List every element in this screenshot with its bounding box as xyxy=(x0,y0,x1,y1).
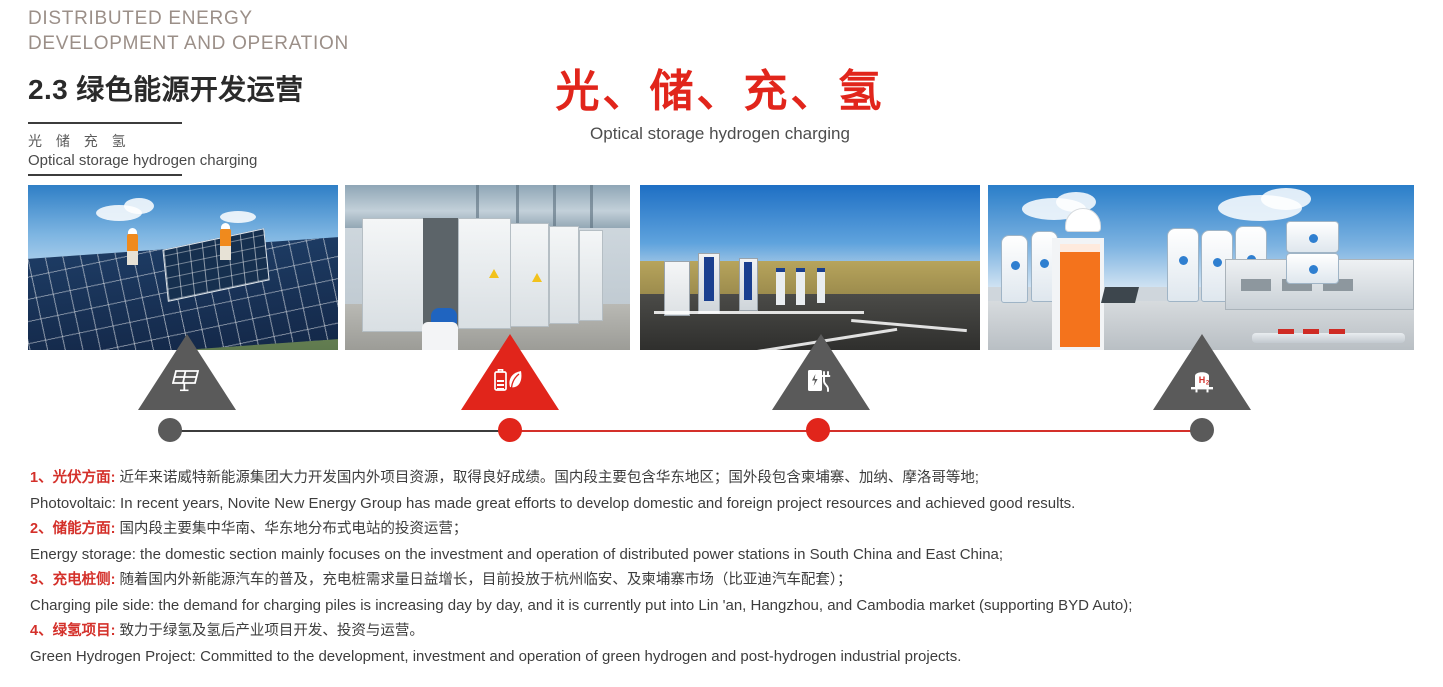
photo-ev-charging-piles xyxy=(640,185,980,350)
hydrogen-tank xyxy=(1167,228,1199,303)
bollard xyxy=(796,268,805,305)
eyebrow-line-1: DISTRIBUTED ENERGY xyxy=(28,6,728,31)
eyebrow-line-2: DEVELOPMENT AND OPERATION xyxy=(28,31,728,56)
warning-icon xyxy=(489,269,499,278)
control-box xyxy=(664,261,690,316)
reflective-stripe xyxy=(1060,244,1100,252)
timeline-segment xyxy=(505,430,820,432)
roof-beam xyxy=(516,185,519,228)
bollard xyxy=(817,268,826,303)
roof-beam xyxy=(590,185,593,228)
photo-solar-panel-installation xyxy=(28,185,338,350)
window xyxy=(1241,279,1271,291)
center-title-block: 光、储、充、氢 Optical storage hydrogen chargin… xyxy=(500,66,940,144)
svg-text:H: H xyxy=(1199,375,1206,385)
paragraph-chinese: 1、光伏方面: 近年来诺威特新能源集团大力开发国内外项目资源，取得良好成绩。国内… xyxy=(30,466,1420,491)
marker-photovoltaic[interactable] xyxy=(138,334,236,410)
battery-cabinet xyxy=(510,223,549,327)
battery-cabinet xyxy=(362,218,424,332)
valve xyxy=(1329,329,1345,334)
paragraph-english: Photovoltaic: In recent years, Novite Ne… xyxy=(30,491,1420,516)
paragraph-english: Charging pile side: the demand for charg… xyxy=(30,593,1420,618)
worker xyxy=(127,228,138,265)
timeline-dot-charging-pile[interactable] xyxy=(806,418,830,442)
technician-body xyxy=(422,322,458,350)
timeline-dot-photovoltaic[interactable] xyxy=(158,418,182,442)
paragraph-english: Green Hydrogen Project: Committed to the… xyxy=(30,644,1420,669)
charging-pile xyxy=(698,253,720,314)
center-title-chinese: 光、储、充、氢 xyxy=(500,66,940,118)
lane-marking xyxy=(654,311,865,314)
hydrogen-tank xyxy=(1001,235,1029,303)
roof-beam xyxy=(553,185,556,228)
warning-icon xyxy=(532,273,542,282)
paragraph-charging-pile: 3、充电桩侧: 随着国内外新能源汽车的普及，充电桩需求量日益增长，目前投放于杭州… xyxy=(30,568,1420,618)
title-divider-top xyxy=(28,122,182,124)
marker-hydrogen[interactable]: H 2 xyxy=(1153,334,1251,410)
sky xyxy=(640,185,980,268)
marker-charging-pile[interactable] xyxy=(772,334,870,410)
paragraph-english: Energy storage: the domestic section mai… xyxy=(30,542,1420,567)
charging-pile xyxy=(739,258,758,311)
paragraph-chinese-text: 致力于绿氢及氢后产业项目开发、投资与运营。 xyxy=(119,623,424,639)
battery-leaf-icon xyxy=(461,368,559,399)
paragraph-chinese-text: 近年来诺威特新能源集团大力开发国内外项目资源，取得良好成绩。国内段主要包含华东地… xyxy=(119,470,979,486)
paragraph-green-hydrogen: 4、绿氢项目: 致力于绿氢及氢后产业项目开发、投资与运营。 Green Hydr… xyxy=(30,619,1420,669)
paragraph-chinese-text: 随着国内外新能源汽车的普及，充电桩需求量日益增长，目前投放于杭州临安、及柬埔寨市… xyxy=(119,572,851,588)
cloud xyxy=(1261,188,1311,210)
timeline xyxy=(0,418,1443,444)
valve xyxy=(1278,329,1294,334)
solar-panel-icon xyxy=(138,368,236,399)
timeline-dot-energy-storage[interactable] xyxy=(498,418,522,442)
paragraph-lead: 2、储能方面: xyxy=(30,521,115,537)
grass-field xyxy=(640,261,980,297)
timeline-dot-hydrogen[interactable] xyxy=(1190,418,1214,442)
paragraph-chinese-text: 国内段主要集中华南、华东地分布式电站的投资运营； xyxy=(119,521,467,537)
photo-strip xyxy=(0,185,1443,350)
paragraph-lead: 1、光伏方面: xyxy=(30,470,115,486)
paragraph-chinese: 3、充电桩侧: 随着国内外新能源汽车的普及，充电桩需求量日益增长，目前投放于杭州… xyxy=(30,568,1420,593)
valve xyxy=(1303,329,1319,334)
body-copy: 1、光伏方面: 近年来诺威特新能源集团大力开发国内外项目资源，取得良好成绩。国内… xyxy=(30,466,1420,670)
timeline-segment xyxy=(812,430,1207,432)
timeline-segment xyxy=(178,430,513,432)
hydrogen-tank-icon: H 2 xyxy=(1153,368,1251,399)
paragraph-lead: 3、充电桩侧: xyxy=(30,572,115,588)
battery-cabinet xyxy=(458,218,511,329)
paragraph-photovoltaic: 1、光伏方面: 近年来诺威特新能源集团大力开发国内外项目资源，取得良好成绩。国内… xyxy=(30,466,1420,516)
paragraph-chinese: 2、储能方面: 国内段主要集中华南、华东地分布式电站的投资运营； xyxy=(30,517,1420,542)
safety-vest xyxy=(1060,244,1100,346)
charging-pile-icon xyxy=(772,368,870,399)
photo-battery-energy-storage xyxy=(345,185,630,350)
paragraph-chinese: 4、绿氢项目: 致力于绿氢及氢后产业项目开发、投资与运营。 xyxy=(30,619,1420,644)
paragraph-lead: 4、绿氢项目: xyxy=(30,623,115,639)
center-title-english: Optical storage hydrogen charging xyxy=(500,124,940,144)
photo-hydrogen-plant xyxy=(988,185,1414,350)
subtitle-english: Optical storage hydrogen charging xyxy=(28,152,728,169)
marker-energy-storage[interactable] xyxy=(461,334,559,410)
battery-cabinet xyxy=(579,230,604,321)
paragraph-energy-storage: 2、储能方面: 国内段主要集中华南、华东地分布式电站的投资运营； Energy … xyxy=(30,517,1420,567)
pipeline xyxy=(1252,333,1405,343)
battery-cabinet xyxy=(549,226,580,324)
title-divider-bottom xyxy=(28,174,182,176)
hydrogen-tank xyxy=(1286,253,1339,285)
hydrogen-tank xyxy=(1286,221,1339,253)
worker xyxy=(220,223,231,260)
svg-text:2: 2 xyxy=(1206,380,1210,386)
bollard xyxy=(776,268,785,305)
laptop xyxy=(1101,287,1139,303)
